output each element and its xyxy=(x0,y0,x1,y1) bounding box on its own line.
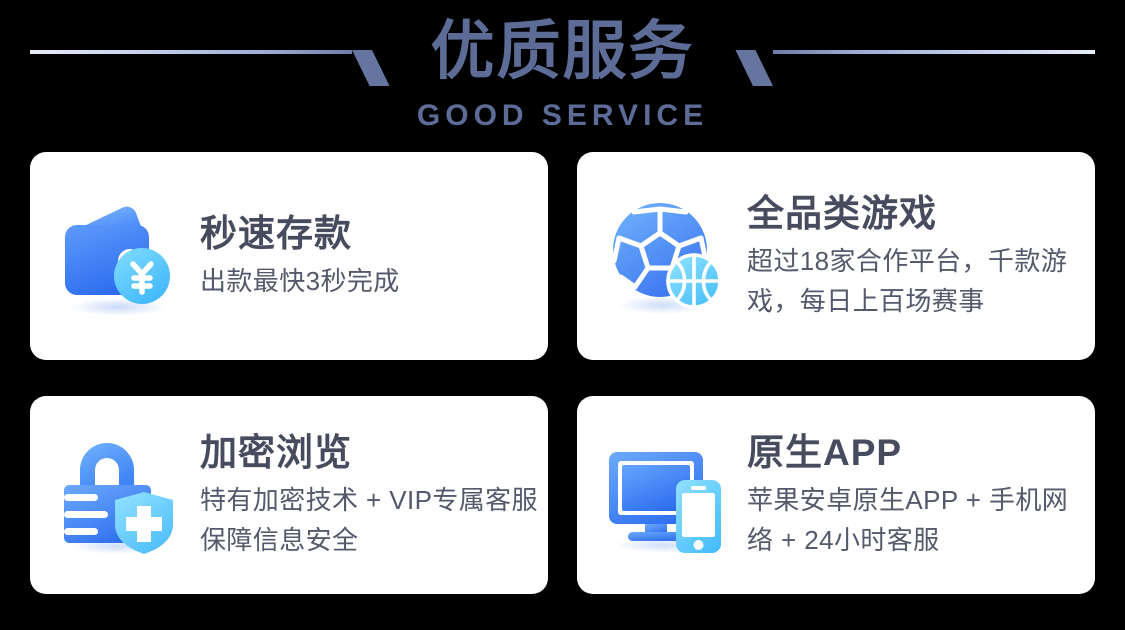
page-title: 优质服务 xyxy=(0,8,1125,94)
card-description: 超过18家合作平台，千款游戏，每日上百场赛事 xyxy=(747,241,1085,321)
feature-card-encrypted-browsing[interactable]: 加密浏览 特有加密技术 + VIP专属客服保障信息安全 xyxy=(30,396,548,594)
card-text-block: 加密浏览 特有加密技术 + VIP专属客服保障信息安全 xyxy=(200,430,538,560)
card-title: 秒速存款 xyxy=(200,211,538,257)
page-header: 优质服务 GOOD SERVICE xyxy=(0,0,1125,145)
card-title: 加密浏览 xyxy=(200,430,538,476)
card-title: 全品类游戏 xyxy=(747,191,1085,237)
feature-card-native-app[interactable]: 原生APP 苹果安卓原生APP + 手机网络 + 24小时客服 xyxy=(577,396,1095,594)
feature-card-instant-deposit[interactable]: 秒速存款 出款最快3秒完成 xyxy=(30,152,548,360)
card-text-block: 原生APP 苹果安卓原生APP + 手机网络 + 24小时客服 xyxy=(747,430,1085,560)
card-description: 特有加密技术 + VIP专属客服保障信息安全 xyxy=(200,480,538,560)
soccer-basketball-icon xyxy=(603,193,729,319)
card-text-block: 全品类游戏 超过18家合作平台，千款游戏，每日上百场赛事 xyxy=(747,191,1085,321)
card-title: 原生APP xyxy=(747,430,1085,476)
card-description: 苹果安卓原生APP + 手机网络 + 24小时客服 xyxy=(747,480,1085,560)
card-description: 出款最快3秒完成 xyxy=(200,261,538,301)
lock-shield-icon xyxy=(56,432,182,558)
page-subtitle: GOOD SERVICE xyxy=(0,96,1125,136)
feature-card-all-game-categories[interactable]: 全品类游戏 超过18家合作平台，千款游戏，每日上百场赛事 xyxy=(577,152,1095,360)
wallet-yen-icon xyxy=(56,193,182,319)
feature-card-grid: 秒速存款 出款最快3秒完成 xyxy=(30,152,1095,594)
monitor-phone-icon xyxy=(603,432,729,558)
card-text-block: 秒速存款 出款最快3秒完成 xyxy=(200,211,538,301)
